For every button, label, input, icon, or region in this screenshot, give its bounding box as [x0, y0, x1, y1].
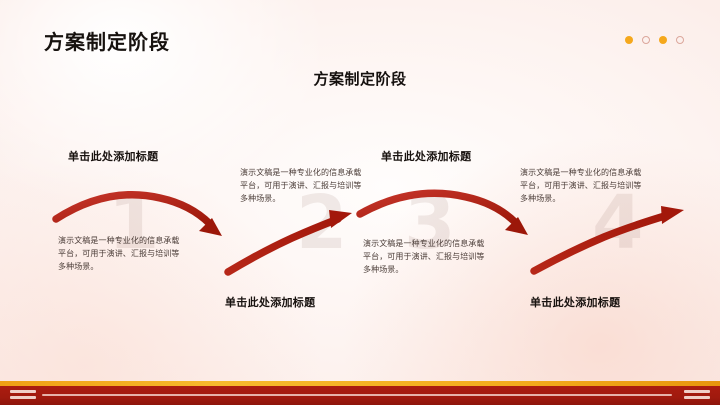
step-2-body: 演示文稿是一种专业化的信息承载平台，可用于演讲、汇报与培训等多种场景。	[240, 166, 364, 206]
arrow-segment-4	[534, 206, 684, 271]
step-1-body: 演示文稿是一种专业化的信息承载平台，可用于演讲、汇报与培训等多种场景。	[58, 234, 182, 274]
footer-red-strip	[0, 386, 720, 405]
footer-tick-right-lower	[684, 396, 710, 399]
step-4-heading-block: 单击此处添加标题	[530, 294, 620, 310]
footer-bar	[0, 381, 720, 405]
arrow-segment-1	[56, 195, 222, 236]
step-3-heading-block: 单击此处添加标题	[381, 148, 471, 164]
step-3-body: 演示文稿是一种专业化的信息承载平台，可用于演讲、汇报与培训等多种场景。	[363, 237, 487, 277]
step-3-heading: 单击此处添加标题	[381, 148, 471, 164]
footer-tick-left-upper	[10, 390, 36, 393]
step-1-heading-block: 单击此处添加标题	[68, 148, 158, 164]
footer-tick-left-lower	[10, 396, 36, 399]
arrow-segment-2	[228, 210, 352, 272]
step-2-heading: 单击此处添加标题	[225, 294, 315, 310]
footer-hairline	[42, 394, 672, 396]
step-3-body-block: 演示文稿是一种专业化的信息承载平台，可用于演讲、汇报与培训等多种场景。	[363, 237, 487, 277]
slide-canvas: 方案制定阶段 方案制定阶段 1 2 3 4	[0, 0, 720, 405]
step-1-body-block: 演示文稿是一种专业化的信息承载平台，可用于演讲、汇报与培训等多种场景。	[58, 234, 182, 274]
footer-tick-right-upper	[684, 390, 710, 393]
step-1-heading: 单击此处添加标题	[68, 148, 158, 164]
step-4-heading: 单击此处添加标题	[530, 294, 620, 310]
step-2-body-block: 演示文稿是一种专业化的信息承载平台，可用于演讲、汇报与培训等多种场景。	[240, 166, 364, 206]
step-4-body-block: 演示文稿是一种专业化的信息承载平台，可用于演讲、汇报与培训等多种场景。	[520, 166, 644, 206]
arrow-segment-3	[360, 193, 528, 235]
step-4-body: 演示文稿是一种专业化的信息承载平台，可用于演讲、汇报与培训等多种场景。	[520, 166, 644, 206]
step-2-heading-block: 单击此处添加标题	[225, 294, 315, 310]
